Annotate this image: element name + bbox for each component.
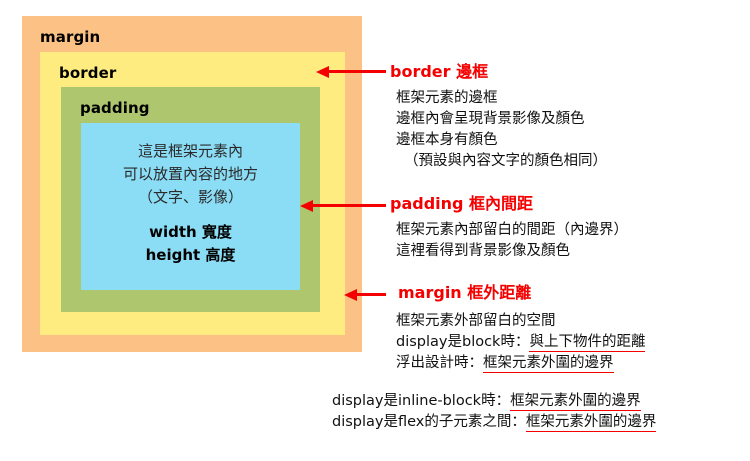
- margin-rule-block-prefix: display是block時：: [396, 334, 529, 350]
- padding-detail-line-2: 這裡看得到背景影像及顏色: [396, 241, 570, 262]
- border-box-region: border padding 這是框架元素內 可以放置內容的地方 （文字、影像）…: [40, 52, 345, 335]
- border-detail-line-4: （預設與內容文字的顏色相同）: [404, 151, 607, 172]
- border-section-heading: border 邊框: [390, 58, 488, 82]
- explanation-panel: border 邊框 框架元素的邊框 邊框內會呈現背景影像及顏色 邊框本身有顏色 …: [390, 0, 750, 461]
- padding-box-label: padding: [80, 101, 150, 116]
- content-width-label: width 寬度: [146, 221, 236, 244]
- padding-box-region: padding 這是框架元素內 可以放置內容的地方 （文字、影像） width …: [61, 87, 320, 312]
- content-description-line-2: 可以放置內容的地方: [123, 163, 258, 186]
- margin-detail-line-1: 框架元素外部留白的空間: [396, 311, 556, 332]
- margin-rule-inline-block-emphasis: 框架元素外圍的邊界: [510, 393, 641, 411]
- margin-rule-flex: display是flex的子元素之間：框架元素外圍的邊界: [332, 412, 656, 433]
- margin-rule-float-emphasis: 框架元素外圍的邊界: [483, 355, 614, 373]
- margin-rule-inline-block: display是inline-block時：框架元素外圍的邊界: [332, 391, 641, 412]
- margin-rule-flex-prefix: display是flex的子元素之間：: [332, 414, 526, 430]
- content-description-line-1: 這是框架元素內: [138, 140, 243, 163]
- box-model-diagram: margin border padding 這是框架元素內 可以放置內容的地方 …: [22, 16, 362, 352]
- content-dimensions-group: width 寬度 height 高度: [146, 221, 236, 267]
- padding-section-heading: padding 框內間距: [390, 190, 533, 214]
- padding-detail-line-1: 框架元素內部留白的間距（內邊界）: [396, 220, 628, 241]
- margin-rule-inline-block-prefix: display是inline-block時：: [332, 393, 510, 409]
- border-detail-line-3: 邊框本身有顏色: [396, 130, 498, 151]
- border-detail-line-2: 邊框內會呈現背景影像及顏色: [396, 109, 585, 130]
- margin-rule-flex-emphasis: 框架元素外圍的邊界: [526, 414, 657, 432]
- margin-rule-block: display是block時：與上下物件的距離: [396, 332, 645, 353]
- content-box-region: 這是框架元素內 可以放置內容的地方 （文字、影像） width 寬度 heigh…: [81, 123, 300, 290]
- margin-section-heading: margin 框外距離: [398, 279, 531, 303]
- margin-box-label: margin: [40, 30, 100, 45]
- border-detail-line-1: 框架元素的邊框: [396, 88, 498, 109]
- border-box-label: border: [59, 66, 116, 81]
- margin-rule-float: 浮出設計時：框架元素外圍的邊界: [396, 353, 614, 374]
- margin-rule-float-prefix: 浮出設計時：: [396, 355, 483, 371]
- content-height-label: height 高度: [146, 244, 236, 267]
- content-description-line-3: （文字、影像）: [138, 186, 243, 209]
- margin-rule-block-emphasis: 與上下物件的距離: [529, 334, 645, 352]
